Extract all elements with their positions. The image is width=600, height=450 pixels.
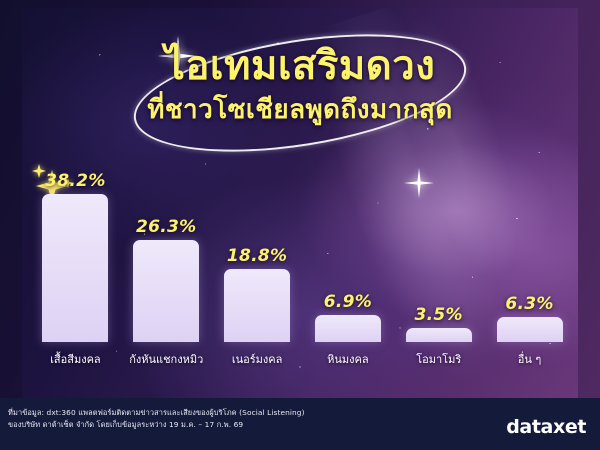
bar: [224, 269, 290, 342]
category-label: กังหันแชกงหมิว: [121, 350, 212, 368]
bar-column: 6.9%: [302, 168, 393, 342]
bar: [42, 194, 108, 342]
category-label: โอมาโมริ: [393, 350, 484, 368]
title-block: ไอเทมเสริมดวง ที่ชาวโซเชียลพูดถึงมากสุด: [0, 18, 600, 148]
infographic-canvas: ไอเทมเสริมดวง ที่ชาวโซเชียลพูดถึงมากสุด …: [0, 0, 600, 450]
footer-bar: ที่มาข้อมูล: dxt:360 แพลตฟอร์มติดตามข่าว…: [0, 398, 600, 450]
bar-value-label: 38.2%: [45, 171, 105, 191]
bar-column: 3.5%: [393, 168, 484, 342]
bar-value-label: 18.8%: [227, 246, 287, 266]
category-label: เสื้อสีมงคล: [30, 350, 121, 368]
logo-text-after: et: [565, 416, 586, 438]
bar-column: 38.2%: [30, 168, 121, 342]
category-label: อื่น ๆ: [484, 350, 575, 368]
category-label: หินมงคล: [302, 350, 393, 368]
logo-x-mark: x: [553, 416, 565, 438]
category-label: เนอร์มงคล: [212, 350, 303, 368]
bar-column: 6.3%: [484, 168, 575, 342]
source-note-line-2: ของบริษัท ดาต้าเซ็ต จำกัด โดยเก็บข้อมูลร…: [8, 419, 305, 431]
bar: [497, 317, 563, 342]
bar: [406, 328, 472, 342]
title-line-1: ไอเทมเสริมดวง: [0, 46, 600, 86]
logo-text-before: data: [506, 416, 553, 438]
bar-value-label: 26.3%: [136, 217, 196, 237]
source-note-line-1: ที่มาข้อมูล: dxt:360 แพลตฟอร์มติดตามข่าว…: [8, 407, 305, 419]
bar-column: 18.8%: [212, 168, 303, 342]
bar-group: 38.2% 26.3% 18.8% 6.9% 3.5% 6.3%: [30, 168, 575, 342]
title-line-2: ที่ชาวโซเชียลพูดถึงมากสุด: [0, 97, 600, 123]
bar: [315, 315, 381, 342]
bar-value-label: 6.3%: [505, 294, 553, 314]
bar-column: 26.3%: [121, 168, 212, 342]
bar-value-label: 3.5%: [415, 305, 463, 325]
source-note: ที่มาข้อมูล: dxt:360 แพลตฟอร์มติดตามข่าว…: [8, 407, 305, 431]
dataxet-logo: dataxet: [506, 416, 586, 438]
category-axis: เสื้อสีมงคล กังหันแชกงหมิว เนอร์มงคล หิน…: [30, 350, 575, 368]
bar-chart: 38.2% 26.3% 18.8% 6.9% 3.5% 6.3%: [30, 168, 575, 368]
bar: [133, 240, 199, 342]
bar-value-label: 6.9%: [324, 292, 372, 312]
